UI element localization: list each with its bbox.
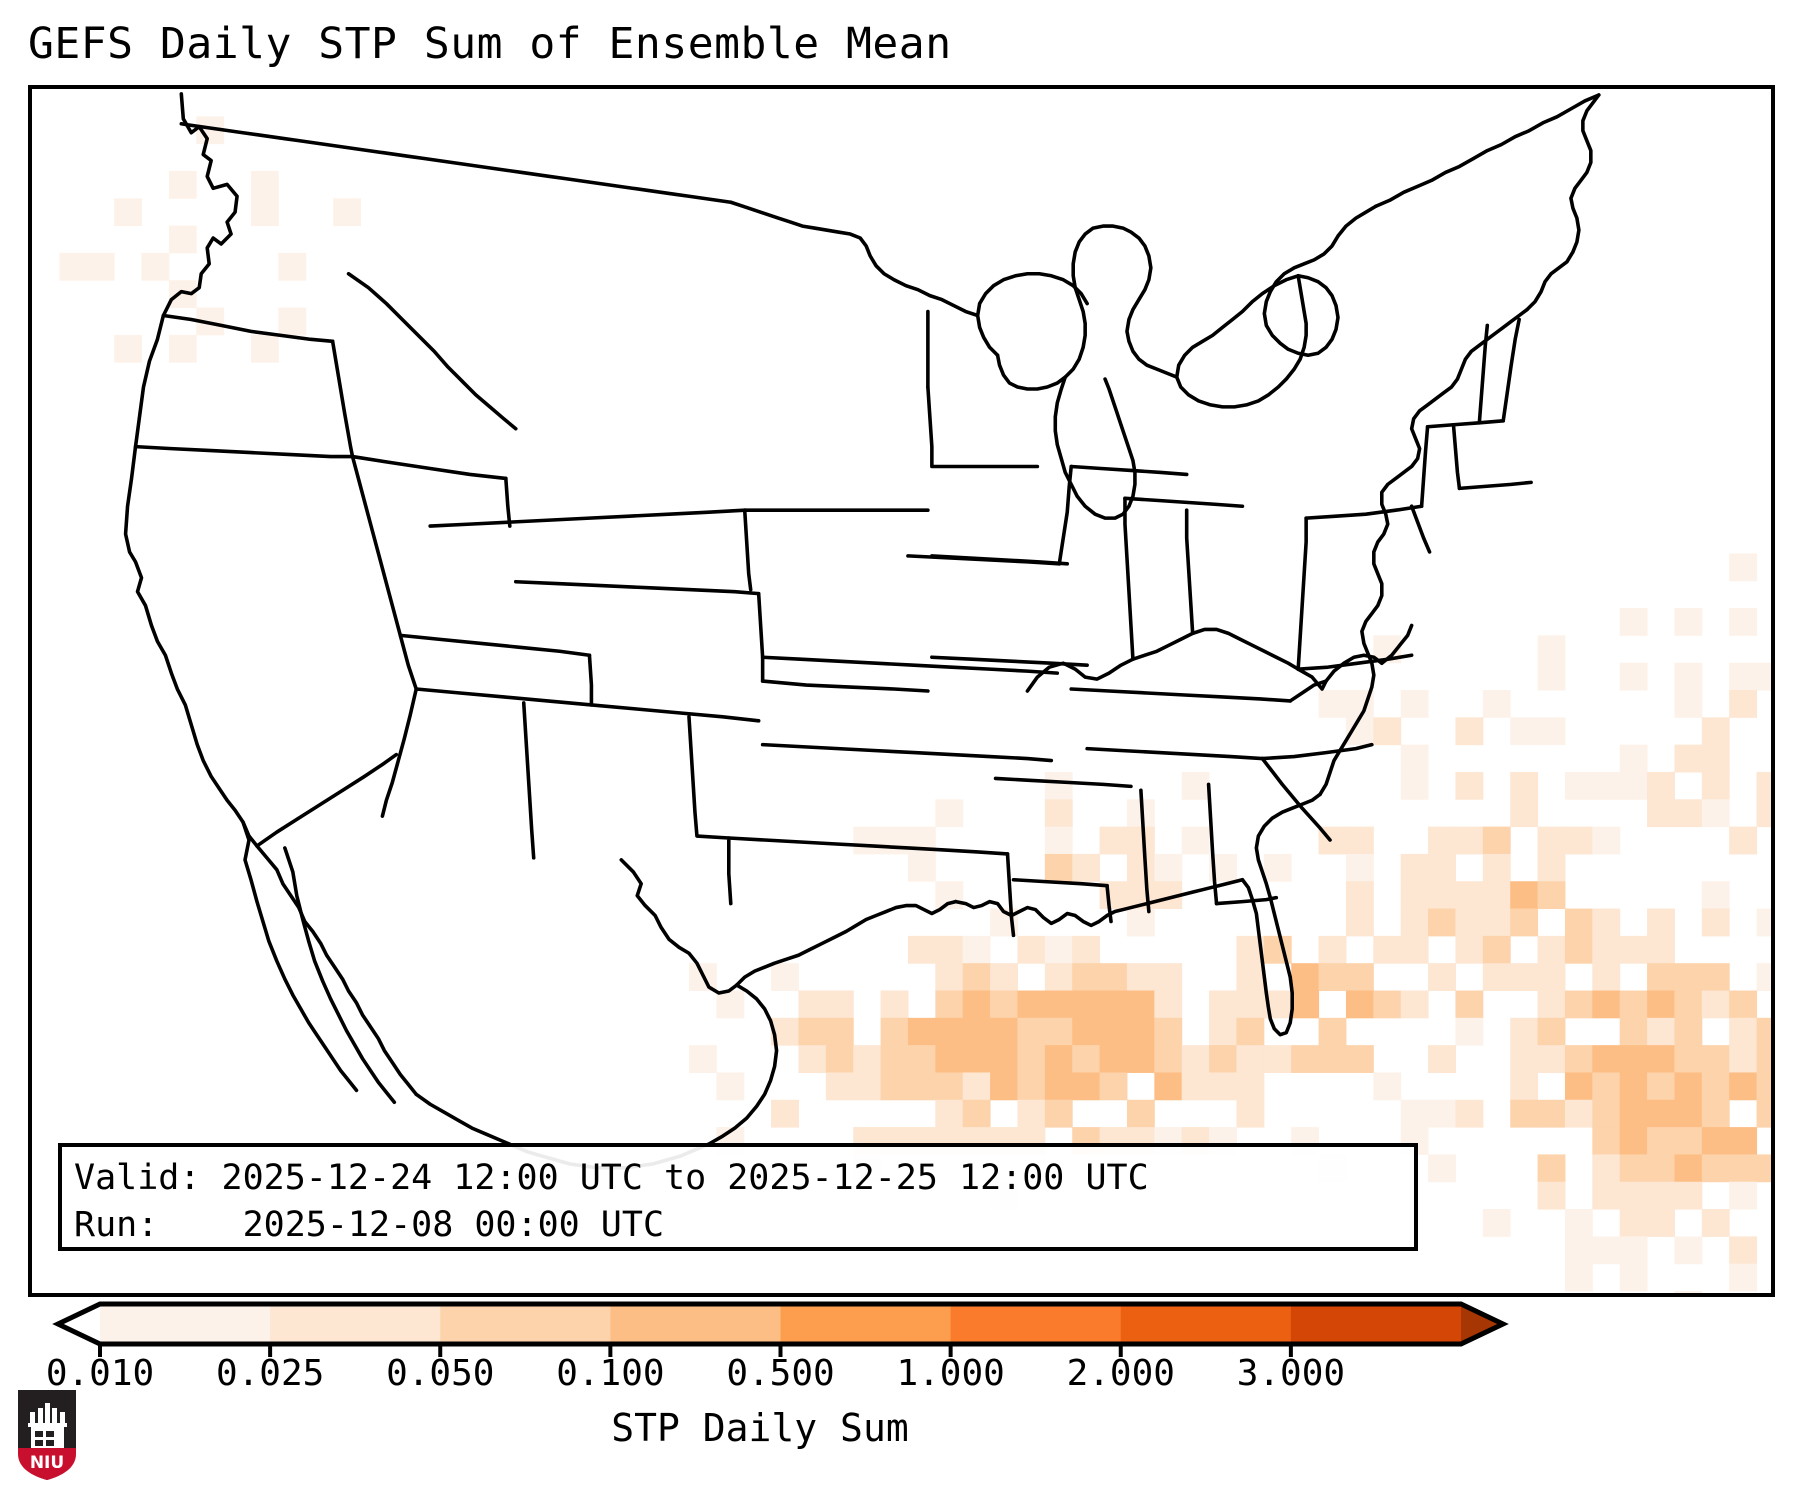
page-title: GEFS Daily STP Sum of Ensemble Mean: [28, 18, 952, 70]
colorbar-tick-label: 0.100: [556, 1352, 664, 1396]
colorbar-band: [100, 1304, 271, 1344]
colorbar-gradient: [58, 1300, 1503, 1348]
colorbar-band: [440, 1304, 611, 1344]
forecast-info-box: Valid: 2025-12-24 12:00 UTC to 2025-12-2…: [58, 1143, 1418, 1251]
geography-layer: [32, 89, 1771, 1293]
colorbar-axis-label: STP Daily Sum: [0, 1405, 1520, 1451]
colorbar-band: [610, 1304, 781, 1344]
valid-time-line: Valid: 2025-12-24 12:00 UTC to 2025-12-2…: [74, 1155, 1414, 1202]
colorbar-tick-label: 0.025: [216, 1352, 324, 1396]
colorbar-tick-label: 3.000: [1237, 1352, 1345, 1396]
run-time-line: Run: 2025-12-08 00:00 UTC: [74, 1202, 1414, 1249]
logo-text: NIU: [30, 1453, 64, 1473]
colorbar-band: [781, 1304, 952, 1344]
map-canvas: [32, 89, 1771, 1293]
colorbar: 0.0100.0250.0500.1000.5001.0002.0003.000…: [0, 1300, 1803, 1500]
colorbar-tick-label: 2.000: [1067, 1352, 1175, 1396]
colorbar-band: [1291, 1304, 1462, 1344]
colorbar-tick-label: 0.050: [386, 1352, 494, 1396]
colorbar-band: [270, 1304, 441, 1344]
colorbar-over-arrow: [1461, 1304, 1503, 1344]
colorbar-tick-label: 1.000: [896, 1352, 1004, 1396]
colorbar-band: [1121, 1304, 1292, 1344]
colorbar-tick-label: 0.500: [726, 1352, 834, 1396]
colorbar-tick-labels: 0.0100.0250.0500.1000.5001.0002.0003.000: [0, 1352, 1803, 1402]
niu-logo: NIU: [14, 1386, 80, 1482]
map-plot-frame: [28, 85, 1775, 1297]
colorbar-under-arrow: [58, 1304, 100, 1344]
colorbar-band: [951, 1304, 1122, 1344]
